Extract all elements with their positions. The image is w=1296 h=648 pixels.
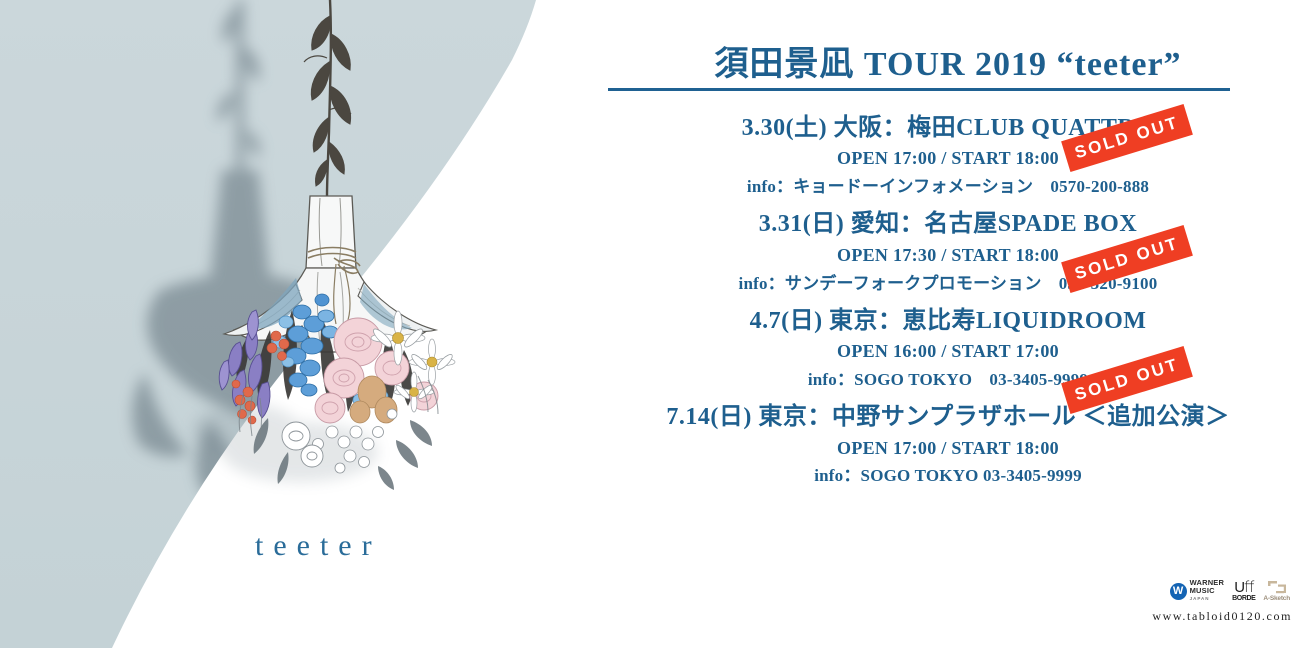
teeter-album-logo: teeter [255,531,382,561]
a-sketch-logo: A-Sketch [1263,580,1290,603]
show-times: OPEN 17:00 / START 18:00 [600,434,1296,463]
list-item: 4.7(日) 東京：恵比寿LIQUIDROOM OPEN 16:00 / STA… [600,305,1296,393]
show-contact: info：キョードーインフォメーション 0570-200-888 [600,173,1296,200]
show-headline: 7.14(日) 東京：中野サンプラザホール ＜追加公演＞ [600,401,1296,433]
warner-line-3: JAPAN [1190,595,1225,603]
show-contact: info：SOGO TOKYO 03-3405-9999 [600,462,1296,489]
website-url: www.tabloid0120.com [1120,609,1296,624]
list-item: 3.30(土) 大阪：梅田CLUB QUATTRO OPEN 17:00 / S… [600,112,1296,200]
borde-wordmark: BORDE [1232,595,1255,602]
show-list: 3.30(土) 大阪：梅田CLUB QUATTRO OPEN 17:00 / S… [600,112,1296,498]
page-title: 須田景凪 TOUR 2019 “teeter” [600,36,1296,85]
label-row: W WARNER MUSIC JAPAN Uﬀ BORDE [1120,578,1296,604]
tour-poster: teeter 須田景凪 TOUR 2019 “teeter” 3.30(土) 大… [0,0,1296,648]
show-times: OPEN 16:00 / START 17:00 [600,337,1296,366]
warner-w-icon: W [1170,583,1187,600]
title-divider [608,88,1230,91]
show-times: OPEN 17:00 / START 18:00 [600,144,1296,173]
warner-line-2: MUSIC [1190,587,1225,595]
warner-music-japan-logo: W WARNER MUSIC JAPAN [1170,579,1225,603]
show-headline: 3.31(日) 愛知：名古屋SPADE BOX [600,208,1296,240]
show-headline: 4.7(日) 東京：恵比寿LIQUIDROOM [600,305,1296,337]
tour-info-panel: 須田景凪 TOUR 2019 “teeter” 3.30(土) 大阪：梅田CLU… [600,0,1296,648]
show-headline: 3.30(土) 大阪：梅田CLUB QUATTRO [600,112,1296,144]
borde-mark-icon: Uﬀ [1232,580,1255,595]
show-contact: info：SOGO TOKYO 03-3405-9999 [600,366,1296,393]
a-sketch-wordmark: A-Sketch [1263,596,1290,603]
borde-logo: Uﬀ BORDE [1232,580,1255,602]
album-artwork: teeter [0,0,600,648]
a-sketch-mark-icon [1267,580,1287,594]
footer-logos: W WARNER MUSIC JAPAN Uﬀ BORDE [1120,578,1296,624]
show-contact: info：サンデーフォークプロモーション 052-320-9100 [600,270,1296,297]
list-item: 7.14(日) 東京：中野サンプラザホール ＜追加公演＞ OPEN 17:00 … [600,401,1296,489]
warner-wordmark: WARNER MUSIC JAPAN [1190,579,1225,603]
